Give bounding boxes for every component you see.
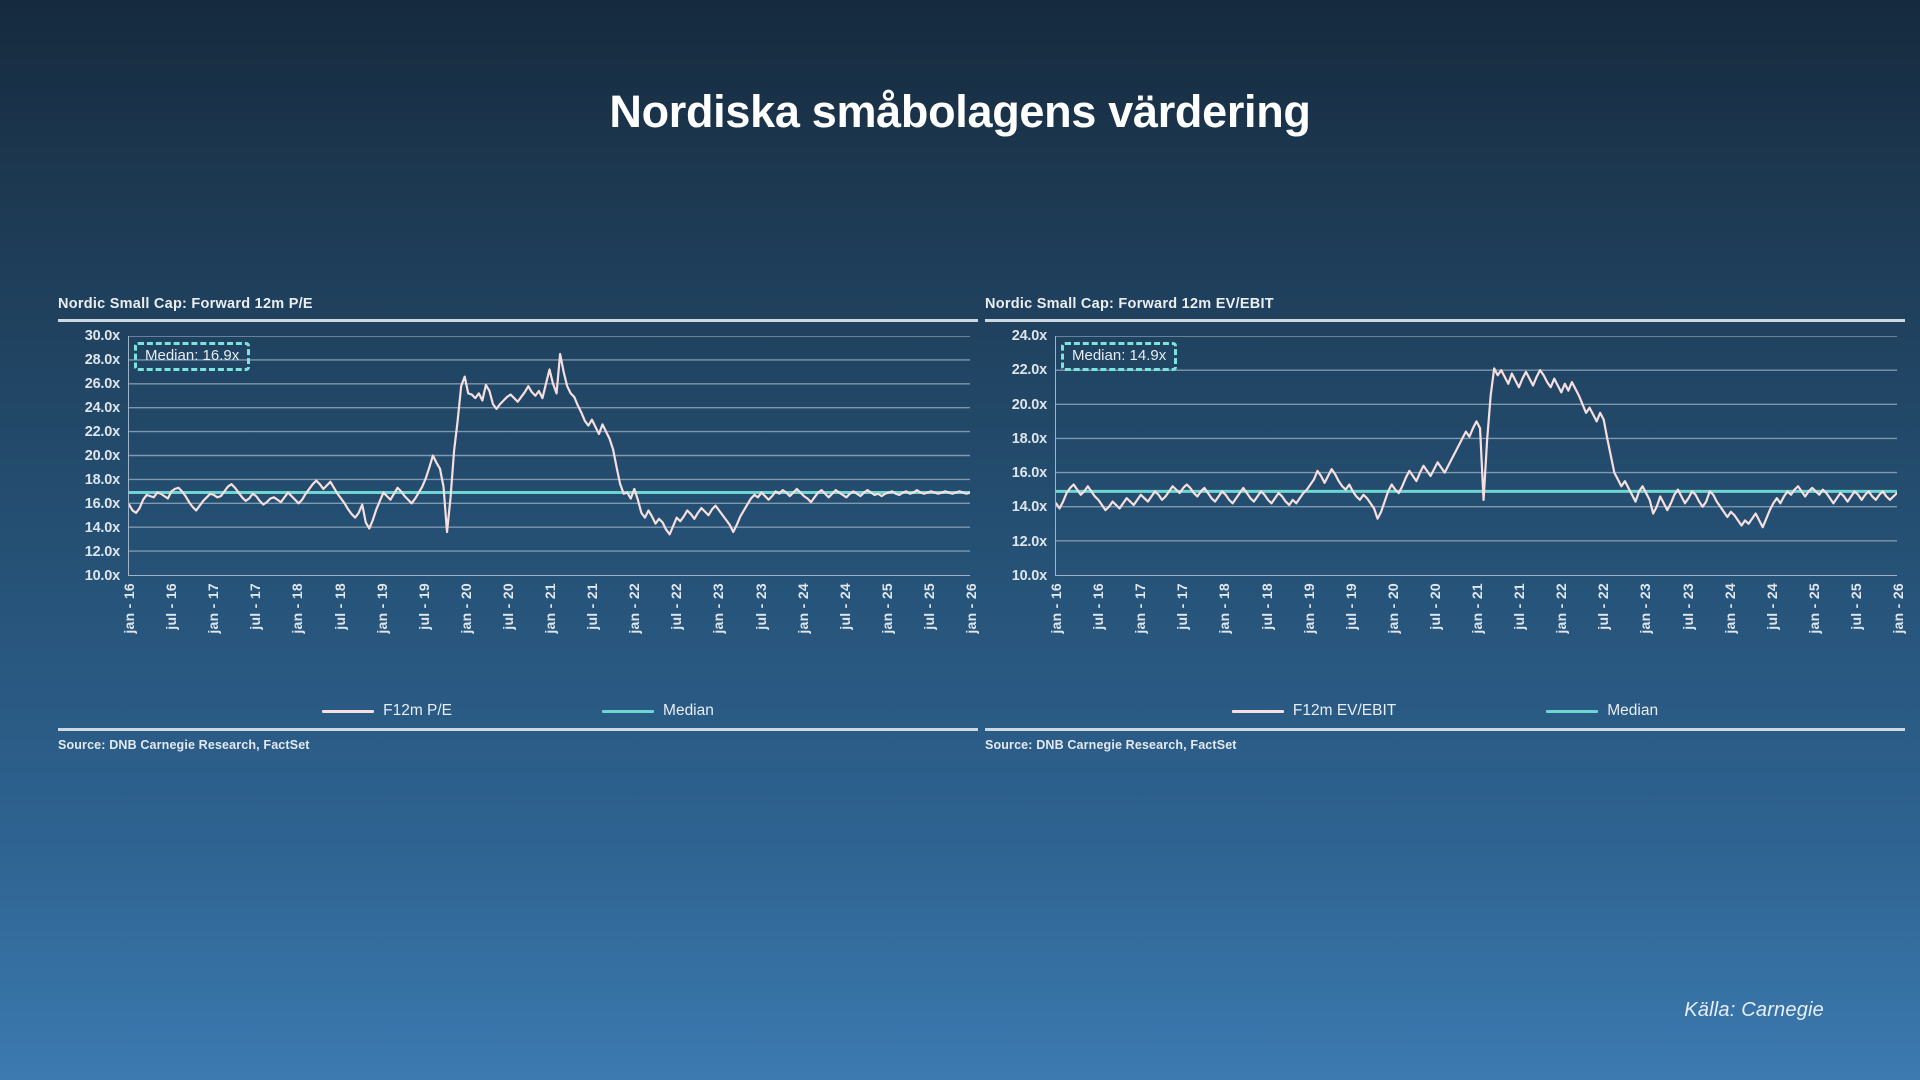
- legend-label: Median: [1607, 702, 1658, 720]
- x-tick-label: jan - 17: [205, 583, 221, 634]
- x-tick-label: jan - 19: [374, 583, 390, 634]
- x-tick-label: jul - 16: [163, 583, 179, 630]
- chart-svg-pe: [129, 336, 970, 575]
- x-tick-label: jul - 22: [668, 583, 684, 630]
- x-axis-evebit: jan - 16jul - 16jan - 17jul - 17jan - 18…: [1055, 579, 1897, 671]
- legend-item[interactable]: Median: [1546, 702, 1658, 720]
- x-tick-label: jul - 21: [1511, 583, 1527, 630]
- y-tick-label: 22.0x: [1012, 362, 1047, 378]
- plot-canvas-evebit: [1055, 336, 1897, 576]
- x-tick-label: jan - 19: [1301, 583, 1317, 634]
- y-tick-label: 24.0x: [85, 400, 120, 416]
- legend-item[interactable]: F12m P/E: [322, 702, 452, 720]
- x-tick-label: jul - 19: [416, 583, 432, 630]
- y-tick-label: 12.0x: [85, 544, 120, 560]
- legend-pe: F12m P/EMedian: [58, 694, 978, 728]
- plot-area-evebit: 24.0x22.0x20.0x18.0x16.0x14.0x12.0x10.0x…: [985, 336, 1905, 598]
- x-tick-label: jan - 20: [458, 583, 474, 634]
- data-series-line: [129, 354, 970, 534]
- legend-label: F12m P/E: [383, 702, 452, 720]
- y-tick-label: 10.0x: [1012, 568, 1047, 584]
- y-tick-label: 30.0x: [85, 328, 120, 344]
- x-tick-label: jul - 23: [753, 583, 769, 630]
- x-tick-label: jul - 25: [1848, 583, 1864, 630]
- panel-bottom-rule-evebit: [985, 728, 1905, 731]
- x-tick-label: jul - 23: [1680, 583, 1696, 630]
- y-tick-label: 16.0x: [1012, 465, 1047, 481]
- y-tick-label: 20.0x: [1012, 397, 1047, 413]
- x-tick-label: jul - 21: [584, 583, 600, 630]
- chart-title-pe: Nordic Small Cap: Forward 12m P/E: [58, 296, 978, 312]
- x-tick-label: jul - 16: [1090, 583, 1106, 630]
- legend-label: F12m EV/EBIT: [1293, 702, 1396, 720]
- legend-evebit: F12m EV/EBITMedian: [985, 694, 1905, 728]
- x-tick-label: jul - 24: [1764, 583, 1780, 630]
- x-tick-label: jan - 22: [626, 583, 642, 634]
- footer-source: Källa: Carnegie: [1684, 999, 1824, 1022]
- legend-item[interactable]: Median: [602, 702, 714, 720]
- x-axis-pe: jan - 16jul - 16jan - 17jul - 17jan - 18…: [128, 579, 970, 671]
- x-tick-label: jan - 22: [1553, 583, 1569, 634]
- y-tick-label: 20.0x: [85, 448, 120, 464]
- x-tick-label: jan - 24: [1722, 583, 1738, 634]
- x-tick-label: jan - 25: [1806, 583, 1822, 634]
- x-tick-label: jul - 22: [1595, 583, 1611, 630]
- y-tick-label: 26.0x: [85, 376, 120, 392]
- x-tick-label: jul - 18: [332, 583, 348, 630]
- x-tick-label: jan - 18: [289, 583, 305, 634]
- y-tick-label: 18.0x: [85, 472, 120, 488]
- x-tick-label: jul - 24: [837, 583, 853, 630]
- x-tick-label: jan - 21: [1469, 583, 1485, 634]
- plot-area-pe: 30.0x28.0x26.0x24.0x22.0x20.0x18.0x16.0x…: [58, 336, 978, 598]
- x-tick-label: jan - 18: [1216, 583, 1232, 634]
- panel-top-rule-evebit: [985, 319, 1905, 322]
- x-tick-label: jan - 23: [710, 583, 726, 634]
- x-tick-label: jan - 16: [121, 583, 137, 634]
- x-tick-label: jan - 16: [1048, 583, 1064, 634]
- data-series-line: [1056, 368, 1897, 527]
- y-axis-evebit: 24.0x22.0x20.0x18.0x16.0x14.0x12.0x10.0x: [985, 336, 1053, 576]
- legend-label: Median: [663, 702, 714, 720]
- legend-swatch-icon: [322, 710, 374, 713]
- median-callout-evebit: Median: 14.9x: [1061, 342, 1177, 371]
- y-tick-label: 16.0x: [85, 496, 120, 512]
- x-tick-label: jul - 20: [500, 583, 516, 630]
- x-tick-label: jan - 25: [879, 583, 895, 634]
- x-tick-label: jan - 26: [963, 583, 979, 634]
- chart-source-evebit: Source: DNB Carnegie Research, FactSet: [985, 738, 1905, 752]
- x-tick-label: jan - 20: [1385, 583, 1401, 634]
- page-title: Nordiska småbolagens värdering: [0, 88, 1920, 135]
- y-tick-label: 24.0x: [1012, 328, 1047, 344]
- x-tick-label: jan - 26: [1890, 583, 1906, 634]
- legend-item[interactable]: F12m EV/EBIT: [1232, 702, 1396, 720]
- x-tick-label: jul - 19: [1343, 583, 1359, 630]
- chart-panel-pe: Nordic Small Cap: Forward 12m P/E 30.0x2…: [58, 296, 978, 796]
- y-tick-label: 22.0x: [85, 424, 120, 440]
- plot-canvas-pe: [128, 336, 970, 576]
- x-tick-label: jul - 20: [1427, 583, 1443, 630]
- legend-swatch-icon: [602, 710, 654, 713]
- chart-source-pe: Source: DNB Carnegie Research, FactSet: [58, 738, 978, 752]
- panel-top-rule-pe: [58, 319, 978, 322]
- x-tick-label: jan - 17: [1132, 583, 1148, 634]
- legend-swatch-icon: [1546, 710, 1598, 713]
- y-tick-label: 12.0x: [1012, 534, 1047, 550]
- x-tick-label: jan - 21: [542, 583, 558, 634]
- panel-bottom-rule-pe: [58, 728, 978, 731]
- x-tick-label: jul - 25: [921, 583, 937, 630]
- x-tick-label: jul - 17: [1174, 583, 1190, 630]
- chart-panel-evebit: Nordic Small Cap: Forward 12m EV/EBIT 24…: [985, 296, 1905, 796]
- x-tick-label: jul - 18: [1259, 583, 1275, 630]
- y-tick-label: 18.0x: [1012, 431, 1047, 447]
- chart-svg-evebit: [1056, 336, 1897, 575]
- chart-title-evebit: Nordic Small Cap: Forward 12m EV/EBIT: [985, 296, 1905, 312]
- y-tick-label: 10.0x: [85, 568, 120, 584]
- y-tick-label: 14.0x: [1012, 499, 1047, 515]
- y-tick-label: 28.0x: [85, 352, 120, 368]
- x-tick-label: jan - 24: [795, 583, 811, 634]
- y-axis-pe: 30.0x28.0x26.0x24.0x22.0x20.0x18.0x16.0x…: [58, 336, 126, 576]
- y-tick-label: 14.0x: [85, 520, 120, 536]
- median-callout-pe: Median: 16.9x: [134, 342, 250, 371]
- x-tick-label: jul - 17: [247, 583, 263, 630]
- legend-swatch-icon: [1232, 710, 1284, 713]
- x-tick-label: jan - 23: [1637, 583, 1653, 634]
